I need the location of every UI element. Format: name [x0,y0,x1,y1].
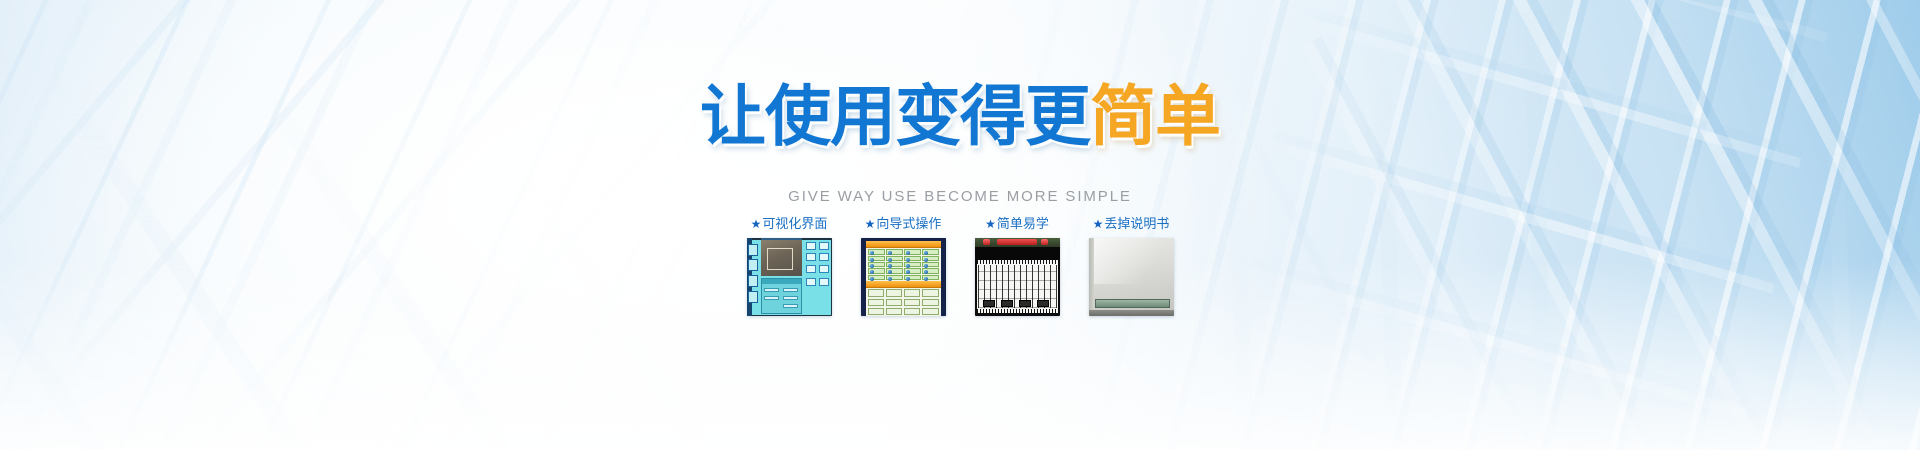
thumb-button-cell [904,308,920,315]
thumb-green-strip [1095,299,1170,308]
thumb-option-cell [922,262,939,267]
thumb-option-cell [886,275,903,280]
feature-label-text: 向导式操作 [876,217,941,232]
headline-blue-text: 让使用变得更 [700,78,1090,155]
thumb-side-edge [1089,238,1094,316]
thumb-option-grid [868,249,939,280]
thumb-video-view [761,240,802,276]
thumb-option-cell [922,268,939,273]
thumb-diagram-sheet [977,260,1058,313]
star-icon: ★ [865,217,876,231]
thumbnail-wizard-operation[interactable] [861,238,946,316]
feature-item-wizard-operation[interactable]: ★向导式操作 [861,218,946,316]
thumb-checkbox-row [764,288,779,292]
thumb-option-cell [922,275,939,280]
feature-item-no-manual[interactable]: ★丢掉说明书 [1089,218,1174,316]
thumb-right-button [819,278,829,286]
thumb-side-button [748,275,758,287]
feature-label-easy-to-learn: ★简单易学 [975,218,1060,232]
thumb-panel-title [762,279,801,284]
thumb-option-cell [886,262,903,267]
thumb-option-cell [904,256,921,261]
thumb-button-cell [904,299,920,306]
feature-label-text: 可视化界面 [762,217,827,232]
thumb-dark-band [975,247,1060,260]
feature-item-visual-interface[interactable]: ★可视化界面 [747,218,832,316]
thumb-inner-screen [866,241,941,316]
thumb-right-button [819,242,829,250]
thumb-perforation [977,309,1058,313]
thumb-button-cell [922,308,938,315]
hero-banner: 让使用变得更简单 GIVE WAY USE BECOME MORE SIMPLE… [0,0,1920,450]
thumb-side-button [748,291,758,303]
thumb-option-cell [868,275,885,280]
thumb-perforation [977,260,1058,264]
thumb-button-cell [868,299,884,306]
thumb-right-button [806,242,816,250]
thumb-red-bar [997,239,1037,245]
thumb-option-cell [904,249,921,254]
banner-subtitle: GIVE WAY USE BECOME MORE SIMPLE [0,188,1920,205]
thumb-side-button [748,259,758,271]
star-icon: ★ [985,217,996,231]
thumb-option-cell [868,256,885,261]
thumb-right-button [806,253,816,261]
thumb-diagram-block [1001,300,1013,307]
thumb-option-cell [886,256,903,261]
thumb-checkbox-row [764,296,779,300]
feature-label-wizard-operation: ★向导式操作 [861,218,946,232]
thumb-right-button [806,265,816,273]
thumbnail-easy-to-learn[interactable] [975,238,1060,316]
thumb-diagram-block [1037,300,1049,307]
feature-item-easy-to-learn[interactable]: ★简单易学 [975,218,1060,316]
feature-label-text: 简单易学 [997,217,1049,232]
thumbnail-visual-interface[interactable] [747,238,832,316]
feature-label-visual-interface: ★可视化界面 [747,218,832,232]
star-icon: ★ [1093,217,1104,231]
thumb-section-bar [866,281,941,288]
thumb-option-cell [868,262,885,267]
thumb-button-cell [922,289,938,296]
thumb-button-cell [868,289,884,296]
thumb-right-button [806,278,816,286]
thumb-checkbox-row [783,288,798,292]
headline-orange-text: 简单 [1090,78,1220,155]
thumb-side-button [748,244,758,256]
thumb-checkbox-row [783,304,798,308]
thumb-option-cell [904,268,921,273]
thumb-option-cell [904,275,921,280]
thumb-button-cell [886,308,902,315]
thumb-button-cell [886,289,902,296]
feature-label-text: 丢掉说明书 [1104,217,1169,232]
thumb-diagram-block [1019,300,1031,307]
thumb-option-cell [886,249,903,254]
thumb-bottom-edge [1089,310,1174,316]
thumb-button-cell [886,299,902,306]
thumb-red-knob [983,239,990,245]
thumb-button-grid [868,289,939,315]
thumb-option-cell [922,249,939,254]
thumbnail-no-manual-needed[interactable] [1089,238,1174,316]
thumb-option-cell [868,268,885,273]
banner-headline: 让使用变得更简单 [0,84,1920,150]
feature-label-no-manual: ★丢掉说明书 [1089,218,1174,232]
thumb-option-cell [922,256,939,261]
thumb-option-cell [904,262,921,267]
thumb-button-cell [868,308,884,315]
banner-content: 让使用变得更简单 GIVE WAY USE BECOME MORE SIMPLE… [0,0,1920,450]
thumb-header-bar [866,241,941,248]
thumb-option-cell [886,268,903,273]
thumb-button-cell [904,289,920,296]
thumb-right-button [819,265,829,273]
thumb-option-cell [868,249,885,254]
thumb-diagram-block [983,300,995,307]
star-icon: ★ [751,217,762,231]
thumb-highlight [1089,238,1174,283]
feature-list: ★可视化界面 [0,218,1920,316]
thumb-checkbox-row [783,296,798,300]
thumb-right-button [819,253,829,261]
thumb-button-cell [922,299,938,306]
thumb-red-knob [1041,239,1048,245]
